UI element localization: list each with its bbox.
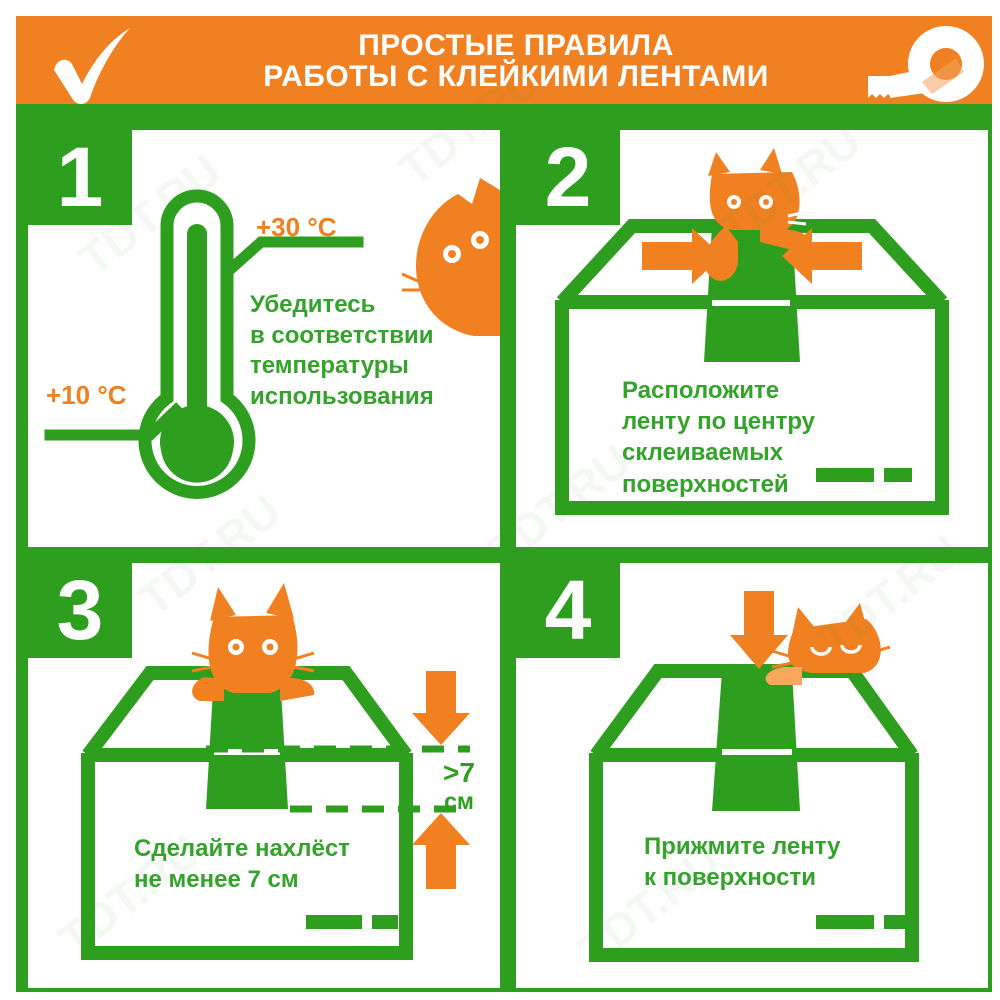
caption-line: склеиваемых bbox=[622, 437, 815, 468]
step-3-caption: Сделайте нахлёст не менее 7 см bbox=[134, 833, 350, 895]
cat-lying-on-box-icon bbox=[766, 603, 890, 685]
step-1-caption: Убедитесь в соответствии температуры исп… bbox=[250, 290, 434, 413]
caption-line: температуры bbox=[250, 351, 434, 382]
step-2-caption: Расположите ленту по центру склеиваемых … bbox=[622, 375, 815, 500]
arrow-up-icon bbox=[412, 813, 470, 889]
caption-line: не менее 7 см bbox=[134, 864, 350, 895]
caption-line: Расположите bbox=[622, 375, 815, 406]
infographic-poster: ПРОСТЫЕ ПРАВИЛА РАБОТЫ С КЛЕЙКИМИ ЛЕНТАМ… bbox=[0, 0, 1000, 1000]
step-number-badge-3: 3 bbox=[28, 563, 132, 658]
caption-line: Сделайте нахлёст bbox=[134, 833, 350, 864]
caption-line: ленту по центру bbox=[622, 406, 815, 437]
header-banner: ПРОСТЫЕ ПРАВИЛА РАБОТЫ С КЛЕЙКИМИ ЛЕНТАМ… bbox=[16, 16, 1000, 104]
caption-line: к поверхности bbox=[644, 862, 840, 893]
caption-line: поверхностей bbox=[622, 469, 815, 500]
step-4-caption: Прижмите ленту к поверхности bbox=[644, 831, 840, 893]
check-icon bbox=[46, 26, 138, 104]
caption-line: Убедитесь bbox=[250, 290, 434, 321]
step-number-badge-2: 2 bbox=[516, 130, 620, 225]
temp-high-label: +30 °C bbox=[256, 212, 337, 243]
caption-line: Прижмите ленту bbox=[644, 831, 840, 862]
title-line-1: ПРОСТЫЕ ПРАВИЛА bbox=[358, 31, 674, 62]
page-title: ПРОСТЫЕ ПРАВИЛА РАБОТЫ С КЛЕЙКИМИ ЛЕНТАМ… bbox=[166, 20, 866, 104]
header-divider bbox=[16, 104, 1000, 118]
temp-low-label: +10 °C bbox=[46, 380, 127, 411]
caption-line: в соответствии bbox=[250, 321, 434, 352]
overlap-measure-label: >7 см bbox=[431, 758, 487, 814]
cat-in-box-icon bbox=[192, 583, 314, 701]
arrow-down-icon bbox=[730, 591, 788, 669]
tape-roll-icon bbox=[860, 24, 990, 104]
arrow-down-icon bbox=[412, 671, 470, 745]
step-number-badge-1: 1 bbox=[28, 130, 132, 225]
caption-line: использования bbox=[250, 382, 434, 413]
measure-line-1: >7 bbox=[431, 758, 487, 789]
steps-grid: +30 °C +10 °C Убедитесь в соответствии т… bbox=[16, 118, 1000, 1000]
measure-line-2: см bbox=[431, 789, 487, 814]
title-line-2: РАБОТЫ С КЛЕЙКИМИ ЛЕНТАМИ bbox=[263, 62, 769, 93]
step-number-badge-4: 4 bbox=[516, 563, 620, 658]
